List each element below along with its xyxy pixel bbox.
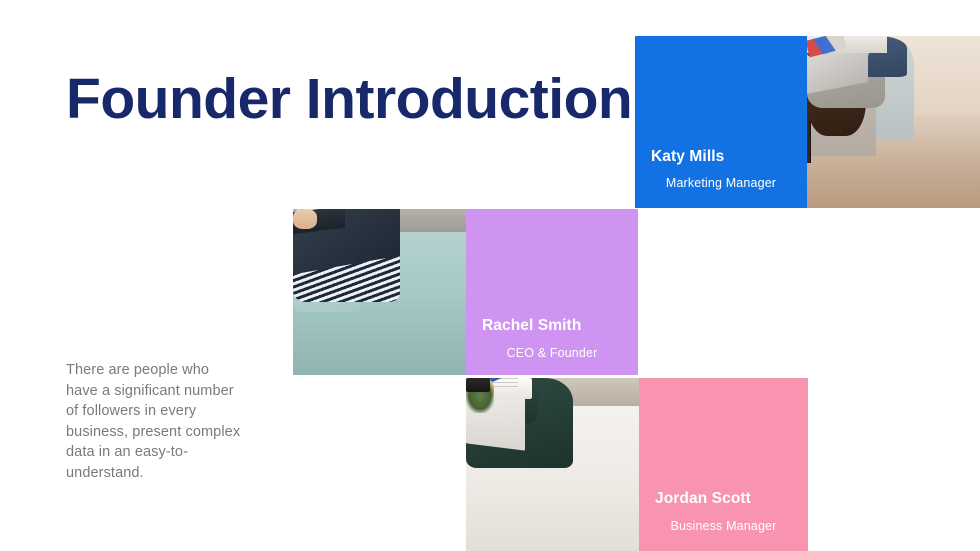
profile-photo-jordan-scott [466,378,639,551]
profile-card-katy-mills[interactable]: Katy Mills Marketing Manager [635,36,807,208]
profile-card-jordan-scott[interactable]: Jordan Scott Business Manager [639,378,808,551]
profile-role: Marketing Manager [635,176,807,190]
profile-name: Rachel Smith [482,317,581,335]
profile-name: Katy Mills [651,148,724,166]
profile-role: Business Manager [639,519,808,533]
page-title: Founder Introduction [66,66,686,132]
profile-photo-katy-mills [807,36,980,208]
intro-paragraph: There are people who have a significant … [66,360,241,484]
profile-photo-rachel-smith [293,209,466,375]
profile-role: CEO & Founder [466,346,638,360]
slide-canvas: Founder Introduction There are people wh… [0,0,980,551]
profile-card-rachel-smith[interactable]: Rachel Smith CEO & Founder [466,209,638,375]
profile-name: Jordan Scott [655,490,751,508]
